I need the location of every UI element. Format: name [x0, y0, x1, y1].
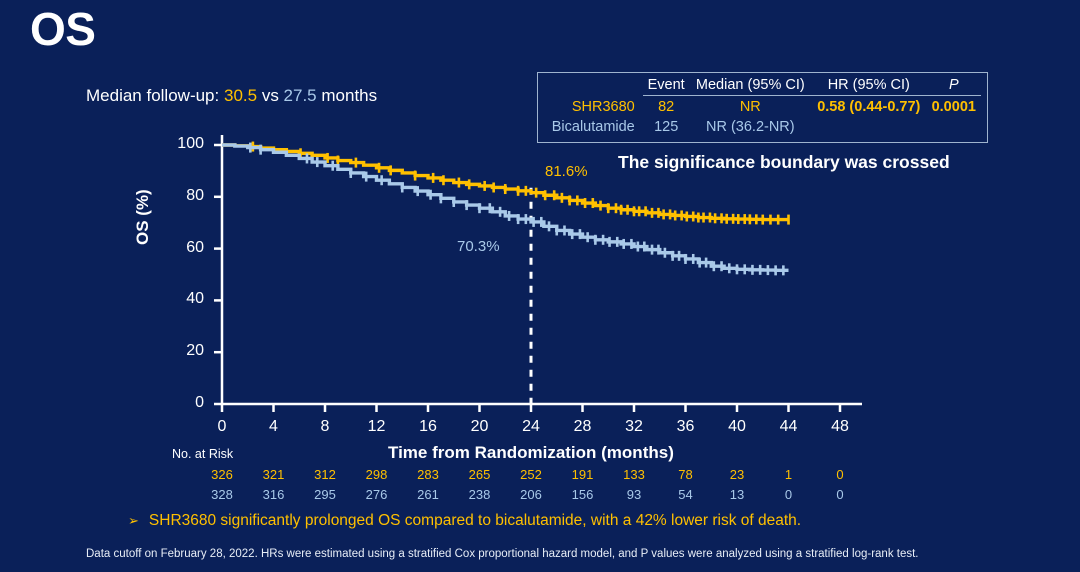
x-tick-label: 16: [408, 418, 448, 436]
at-risk-value: 191: [563, 467, 603, 482]
cell-hr-bicalutamide: [811, 116, 927, 136]
x-tick-label: 48: [820, 418, 860, 436]
bullet-arrow-icon: ➢: [128, 513, 139, 528]
at-risk-value: 298: [357, 467, 397, 482]
header-median: Median (95% CI): [690, 77, 811, 96]
table-header-row: Event Median (95% CI) HR (95% CI) P: [544, 77, 981, 96]
cell-hr-shr3680: 0.58 (0.44-0.77): [811, 96, 927, 117]
at-risk-value: 54: [666, 487, 706, 502]
at-risk-value: 0: [769, 487, 809, 502]
followup-prefix: Median follow-up:: [86, 86, 219, 105]
x-tick-label: 12: [357, 418, 397, 436]
at-risk-value: 316: [254, 487, 294, 502]
cell-pvalue-shr3680: 0.0001: [927, 96, 981, 117]
x-tick-label: 28: [563, 418, 603, 436]
x-axis-label: Time from Randomization (months): [388, 443, 674, 463]
at-risk-value: 312: [305, 467, 345, 482]
cell-median-shr3680: NR: [690, 96, 811, 117]
header-pvalue: P: [927, 77, 981, 96]
x-tick-label: 24: [511, 418, 551, 436]
at-risk-value: 261: [408, 487, 448, 502]
cell-event-bicalutamide: 125: [643, 116, 690, 136]
at-risk-label: No. at Risk: [172, 447, 233, 461]
significance-note: The significance boundary was crossed: [618, 152, 950, 173]
at-risk-value: 93: [614, 487, 654, 502]
y-tick-label: 80: [164, 187, 204, 205]
at-risk-value: 156: [563, 487, 603, 502]
at-risk-value: 283: [408, 467, 448, 482]
row-arm-bicalutamide: Bicalutamide: [544, 116, 643, 136]
at-risk-value: 0: [820, 467, 860, 482]
x-tick-label: 0: [202, 418, 242, 436]
at-risk-value: 326: [202, 467, 242, 482]
x-tick-label: 40: [717, 418, 757, 436]
at-risk-value: 78: [666, 467, 706, 482]
y-tick-label: 60: [164, 239, 204, 257]
y-tick-label: 40: [164, 290, 204, 308]
curve-annotation: 81.6%: [545, 163, 588, 180]
cell-median-bicalutamide: NR (36.2-NR): [690, 116, 811, 136]
curve-annotation: 70.3%: [457, 238, 500, 255]
at-risk-value: 133: [614, 467, 654, 482]
at-risk-value: 238: [460, 487, 500, 502]
header-event: Event: [643, 77, 690, 96]
at-risk-value: 321: [254, 467, 294, 482]
x-tick-label: 32: [614, 418, 654, 436]
page-title: OS: [30, 6, 95, 52]
cell-pvalue-bicalutamide: [927, 116, 981, 136]
at-risk-value: 252: [511, 467, 551, 482]
at-risk-value: 206: [511, 487, 551, 502]
followup-vs: vs: [262, 86, 279, 105]
at-risk-value: 0: [820, 487, 860, 502]
y-tick-label: 100: [164, 135, 204, 153]
median-followup: Median follow-up: 30.5 vs 27.5 months: [86, 86, 377, 106]
x-tick-label: 4: [254, 418, 294, 436]
footnote: Data cutoff on February 28, 2022. HRs we…: [86, 548, 919, 560]
slide-root: OS Median follow-up: 30.5 vs 27.5 months…: [0, 0, 1080, 572]
x-tick-label: 20: [460, 418, 500, 436]
at-risk-value: 1: [769, 467, 809, 482]
conclusion-bullet: ➢SHR3680 significantly prolonged OS comp…: [128, 512, 801, 530]
x-tick-label: 44: [769, 418, 809, 436]
at-risk-value: 265: [460, 467, 500, 482]
at-risk-value: 13: [717, 487, 757, 502]
at-risk-value: 328: [202, 487, 242, 502]
table-row: Bicalutamide 125 NR (36.2-NR): [544, 116, 981, 136]
statistics-table: Event Median (95% CI) HR (95% CI) P SHR3…: [537, 72, 988, 143]
x-tick-label: 36: [666, 418, 706, 436]
conclusion-text: SHR3680 significantly prolonged OS compa…: [149, 512, 801, 529]
at-risk-value: 276: [357, 487, 397, 502]
table-row: SHR3680 82 NR 0.58 (0.44-0.77) 0.0001: [544, 96, 981, 117]
y-tick-label: 0: [164, 394, 204, 412]
x-tick-label: 8: [305, 418, 345, 436]
followup-value-shr3680: 30.5: [224, 86, 257, 105]
y-tick-label: 20: [164, 342, 204, 360]
followup-value-bicalutamide: 27.5: [284, 86, 317, 105]
row-arm-shr3680: SHR3680: [544, 96, 643, 117]
at-risk-value: 23: [717, 467, 757, 482]
header-hr: HR (95% CI): [811, 77, 927, 96]
y-axis-label: OS (%): [133, 189, 153, 245]
header-arm: [544, 77, 643, 96]
at-risk-value: 295: [305, 487, 345, 502]
followup-units: months: [321, 86, 377, 105]
cell-event-shr3680: 82: [643, 96, 690, 117]
